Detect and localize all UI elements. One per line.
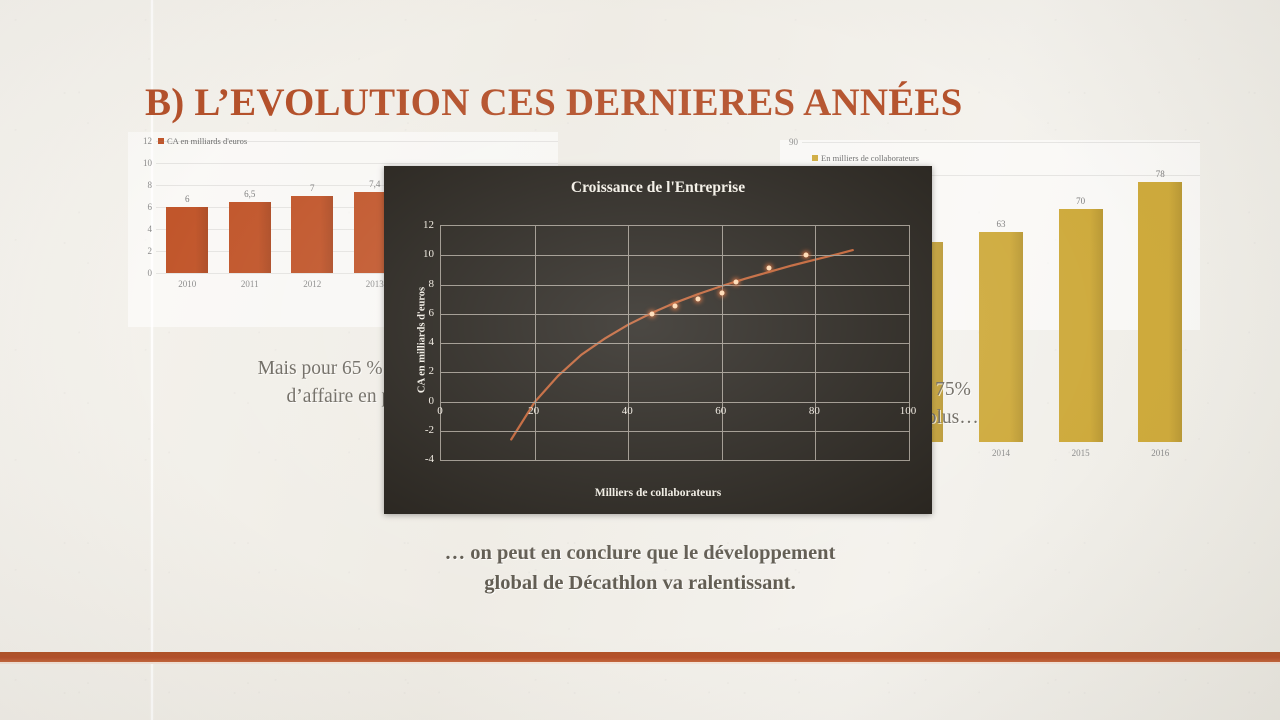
chart-data-point [696, 297, 701, 302]
chart-y-tick-label: 12 [394, 219, 434, 231]
chart-bar [166, 207, 208, 273]
chart-bar-group: 72012 [281, 125, 344, 291]
chart-gridline-vertical [815, 226, 816, 460]
chart-bar-value-label: 6,5 [219, 189, 282, 199]
chart-gridline-vertical [628, 226, 629, 460]
chart-bar-value-label: 6 [156, 194, 219, 204]
conclusion-text: … on peut en conclure que le développeme… [280, 538, 1000, 598]
chart-data-point [766, 266, 771, 271]
chart-y-tick-label: 2 [130, 246, 152, 256]
chart-y-tick-label: -4 [394, 453, 434, 465]
chart-y-tick-label: 90 [776, 137, 798, 147]
chart-x-tick-label: 60 [701, 405, 741, 417]
chart-x-axis-label: Milliers de collaborateurs [384, 487, 932, 499]
conclusion-line2: global de Décathlon va ralentissant. [280, 568, 1000, 598]
chart-bar-group: 62010 [156, 125, 219, 291]
chart-x-tick-label: 20 [514, 405, 554, 417]
croissance-entreprise-scatter: Croissance de l'Entreprise CA en milliar… [384, 166, 932, 514]
chart-gridline-horizontal [441, 314, 909, 315]
chart-y-tick-label: 6 [394, 307, 434, 319]
chart-data-point [673, 304, 678, 309]
chart-x-tick-label: 2010 [156, 279, 219, 289]
chart-gridline-vertical [535, 226, 536, 460]
chart-gridline-vertical [722, 226, 723, 460]
chart-x-tick-label: 2014 [961, 448, 1041, 458]
chart-bar [229, 202, 271, 274]
chart-plot-area [440, 225, 910, 461]
chart-data-point [649, 311, 654, 316]
chart-bar-value-label: 78 [1120, 169, 1200, 179]
chart-x-tick-label: 2016 [1120, 448, 1200, 458]
chart-title: Croissance de l'Entreprise [384, 179, 932, 197]
chart-y-tick-label: -2 [394, 424, 434, 436]
chart-data-point [804, 253, 809, 258]
footer-accent-bar [0, 652, 1280, 664]
chart-x-tick-label: 2015 [1041, 448, 1121, 458]
chart-gridline-horizontal [441, 431, 909, 432]
chart-y-tick-label: 12 [130, 136, 152, 146]
chart-x-tick-label: 0 [420, 405, 460, 417]
chart-bar-group: 6,52011 [219, 125, 282, 291]
chart-y-tick-label: 6 [130, 202, 152, 212]
chart-y-tick-label: 2 [394, 365, 434, 377]
chart-y-tick-label: 8 [394, 278, 434, 290]
chart-bar-value-label: 70 [1041, 196, 1121, 206]
chart-x-tick-label: 80 [794, 405, 834, 417]
chart-x-tick-label: 2011 [219, 279, 282, 289]
chart-y-tick-label: 10 [130, 158, 152, 168]
chart-data-point [719, 291, 724, 296]
chart-y-tick-label: 4 [130, 224, 152, 234]
chart-bar-value-label: 7 [281, 183, 344, 193]
chart-gridline-horizontal [441, 343, 909, 344]
chart-y-tick-label: 10 [394, 248, 434, 260]
chart-y-tick-label: 4 [394, 336, 434, 348]
chart-bar-value-label: 63 [961, 219, 1041, 229]
page-title: B) L’EVOLUTION CES DERNIERES ANNÉES [145, 80, 1145, 125]
chart-gridline-horizontal [441, 285, 909, 286]
chart-data-point [733, 279, 738, 284]
chart-x-tick-label: 40 [607, 405, 647, 417]
chart-bar [291, 196, 333, 273]
chart-bar [1138, 182, 1182, 442]
chart-gridline-horizontal [441, 402, 909, 403]
chart-x-tick-label: 2012 [281, 279, 344, 289]
chart-y-tick-label: 0 [130, 268, 152, 278]
chart-x-tick-label: 100 [888, 405, 928, 417]
conclusion-line1: … on peut en conclure que le développeme… [280, 538, 1000, 568]
chart-y-tick-label: 8 [130, 180, 152, 190]
chart-gridline-horizontal [441, 255, 909, 256]
chart-gridline-horizontal [441, 372, 909, 373]
